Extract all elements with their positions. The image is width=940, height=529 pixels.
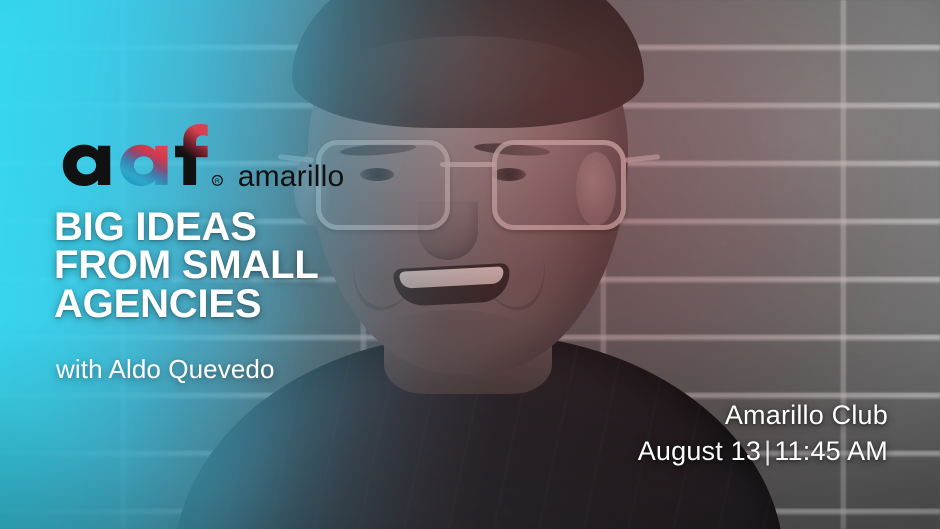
- speaker-subtitle: with Aldo Quevedo: [56, 354, 275, 385]
- event-time: 11:45 AM: [774, 436, 888, 466]
- event-datetime: August 13|11:45 AM: [638, 436, 888, 468]
- event-date: August 13: [638, 436, 761, 466]
- event-details: Amarillo Club August 13|11:45 AM: [638, 400, 888, 468]
- logo-chapter-name: amarillo: [238, 162, 345, 192]
- banner-content: R amarillo BIG IDEAS FROM SMALL AGENCIES…: [0, 0, 940, 529]
- event-promo-banner: R amarillo BIG IDEAS FROM SMALL AGENCIES…: [0, 0, 940, 529]
- page-title: BIG IDEAS FROM SMALL AGENCIES: [54, 208, 414, 323]
- headline-line-3: AGENCIES: [54, 285, 414, 323]
- datetime-separator: |: [761, 436, 774, 466]
- aaf-logo-icon: R: [52, 124, 227, 186]
- aaf-amarillo-logo: R amarillo: [52, 124, 344, 192]
- event-venue: Amarillo Club: [638, 400, 888, 432]
- headline-line-2: FROM SMALL: [54, 246, 414, 284]
- headline-line-1: BIG IDEAS: [54, 208, 414, 246]
- registered-trademark-icon: R: [212, 175, 222, 185]
- svg-text:R: R: [215, 178, 220, 185]
